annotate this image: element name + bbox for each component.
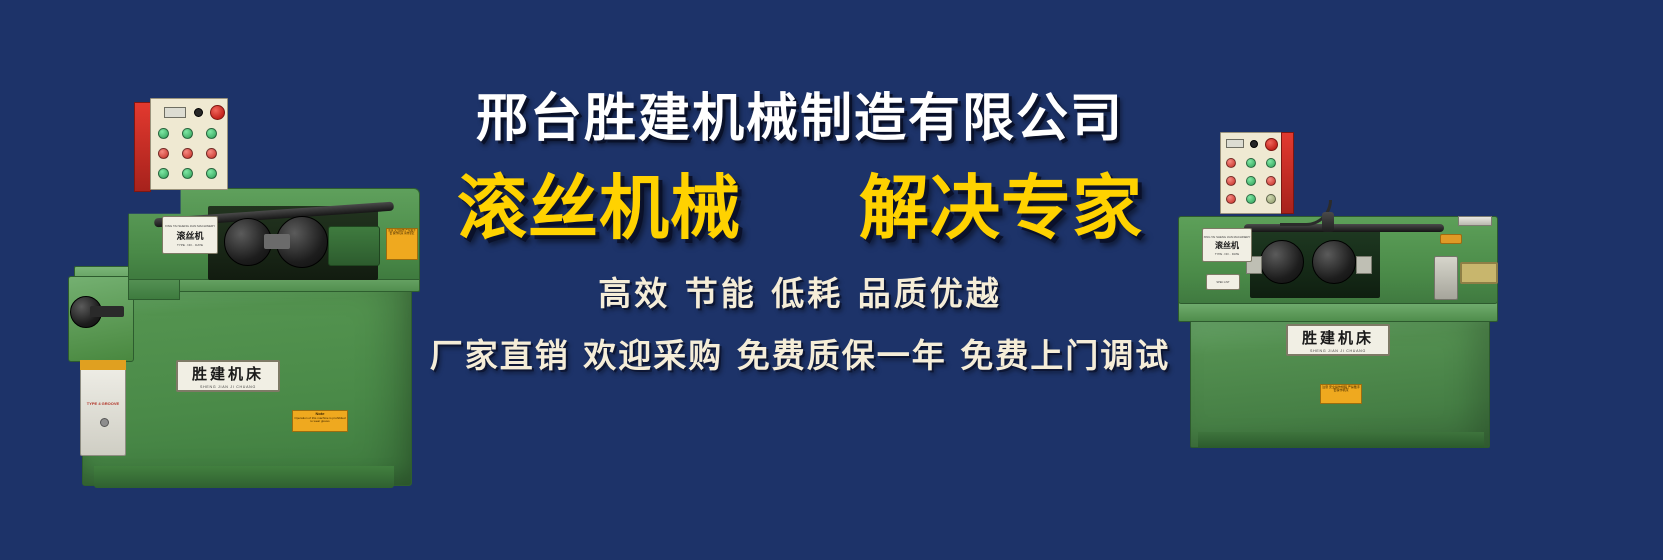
control-panel-right-emergency-stop-button[interactable] bbox=[1265, 138, 1278, 151]
headline-phrase-1: 滚丝机械 bbox=[457, 173, 741, 243]
control-panel-right-selector-knob[interactable] bbox=[1250, 140, 1258, 148]
machine-right-base-foot bbox=[1198, 432, 1484, 448]
machine-right-warning-text: 注意 安全操作规程 严禁戴手套操作机床 bbox=[1322, 386, 1360, 393]
machine-left-electrical-box-top bbox=[80, 360, 126, 370]
control-panel-left-display bbox=[164, 107, 186, 118]
machine-right-spec-plate-title: 滚丝机 bbox=[1215, 240, 1239, 251]
machine-right-roller-die-2 bbox=[1312, 240, 1356, 284]
machine-left-spec-plate-title: 滚丝机 bbox=[176, 229, 203, 242]
machine-left-base-foot bbox=[94, 466, 394, 488]
machine-right-manifold bbox=[1440, 234, 1462, 244]
promotional-banner: XING TAI SHENG JIAN MACHINERY 滚丝机 TYPE .… bbox=[0, 0, 1663, 560]
panel-button-r9[interactable] bbox=[1266, 194, 1276, 204]
control-panel-left-emergency-stop-button[interactable] bbox=[210, 105, 225, 120]
machine-right-spec-plate: XING TAI SHENG JIAN MACHINERY 滚丝机 TYPE .… bbox=[1202, 228, 1252, 262]
sub-line-services: 厂家直销 欢迎采购 免费质保一年 免费上门调试 bbox=[400, 329, 1200, 377]
panel-button-9[interactable] bbox=[206, 168, 217, 179]
machine-left: XING TAI SHENG JIAN MACHINERY 滚丝机 TYPE .… bbox=[28, 88, 428, 488]
machine-right-hydraulic-block bbox=[1434, 256, 1458, 300]
panel-button-7[interactable] bbox=[158, 168, 169, 179]
headline-phrase-2: 解决专家 bbox=[859, 173, 1143, 243]
machine-right-warning-label: 注意 安全操作规程 严禁戴手套操作机床 bbox=[1320, 384, 1362, 404]
panel-button-r8[interactable] bbox=[1246, 194, 1256, 204]
machine-right-top-bar bbox=[1244, 224, 1444, 232]
machine-left-spec-plate: XING TAI SHENG JIAN MACHINERY 滚丝机 TYPE .… bbox=[162, 216, 218, 254]
control-panel-right-display bbox=[1226, 139, 1244, 148]
machine-left-box-knob bbox=[100, 418, 109, 427]
machine-left-electrical-box-label: TYPE 4 GROOVE bbox=[82, 400, 124, 409]
machine-left-nameplate-cn: 胜建机床 bbox=[192, 363, 264, 384]
machine-right-nameplate-cn: 胜建机床 bbox=[1302, 327, 1374, 348]
panel-button-r7[interactable] bbox=[1226, 194, 1236, 204]
banner-text-block: 邢台胜建机械制造有限公司 滚丝机械 解决专家 高效 节能 低耗 品质优越 厂家直… bbox=[400, 92, 1200, 432]
control-panel-left-selector-knob[interactable] bbox=[194, 108, 203, 117]
panel-button-3[interactable] bbox=[206, 128, 217, 139]
machine-right-nameplate-en: SHENG JIAN JI CHUANG bbox=[1310, 349, 1366, 353]
panel-button-r5[interactable] bbox=[1246, 176, 1256, 186]
machine-right-cable-gland bbox=[1322, 212, 1334, 232]
machine-right: XING TAI SHENG JIAN MACHINERY 滚丝机 TYPE .… bbox=[1172, 128, 1572, 458]
sub-line-features: 高效 节能 低耗 品质优越 bbox=[400, 267, 1200, 315]
control-panel-right-button-grid[interactable] bbox=[1226, 158, 1278, 206]
panel-button-r1[interactable] bbox=[1226, 158, 1236, 168]
machine-left-control-panel[interactable] bbox=[134, 98, 228, 194]
panel-button-r3[interactable] bbox=[1266, 158, 1276, 168]
machine-right-slide-right bbox=[1356, 256, 1372, 274]
machine-left-shaft bbox=[90, 306, 124, 317]
panel-button-2[interactable] bbox=[182, 128, 193, 139]
machine-right-small-plate: SPEC LIST bbox=[1206, 274, 1240, 290]
panel-button-1[interactable] bbox=[158, 128, 169, 139]
machine-right-control-panel[interactable] bbox=[1220, 132, 1296, 216]
machine-right-roller-die-1 bbox=[1260, 240, 1304, 284]
panel-button-6[interactable] bbox=[206, 148, 217, 159]
machine-left-roller-axle bbox=[264, 234, 290, 249]
control-panel-left-side-red bbox=[134, 102, 151, 192]
machine-left-note-text: Operation of this machine is prohibited … bbox=[294, 417, 346, 424]
machine-left-motor bbox=[328, 226, 380, 266]
panel-button-r6[interactable] bbox=[1266, 176, 1276, 186]
control-panel-right-side-red bbox=[1281, 132, 1294, 214]
machine-right-nameplate: 胜建机床 SHENG JIAN JI CHUANG bbox=[1286, 324, 1390, 356]
panel-button-8[interactable] bbox=[182, 168, 193, 179]
control-panel-left-button-grid[interactable] bbox=[158, 128, 222, 182]
machine-left-note-label: Note Operation of this machine is prohib… bbox=[292, 410, 348, 432]
panel-button-r2[interactable] bbox=[1246, 158, 1256, 168]
company-name: 邢台胜建机械制造有限公司 bbox=[400, 92, 1200, 147]
machine-left-nameplate-en: SHENG JIAN JI CHUANG bbox=[200, 385, 256, 389]
machine-left-nameplate: 胜建机床 SHENG JIAN JI CHUANG bbox=[176, 360, 280, 392]
panel-button-r4[interactable] bbox=[1226, 176, 1236, 186]
panel-button-5[interactable] bbox=[182, 148, 193, 159]
headline-row: 滚丝机械 解决专家 bbox=[400, 173, 1200, 243]
panel-button-4[interactable] bbox=[158, 148, 169, 159]
machine-right-gauge-plate bbox=[1460, 262, 1498, 284]
machine-right-support-tray bbox=[1458, 216, 1492, 226]
